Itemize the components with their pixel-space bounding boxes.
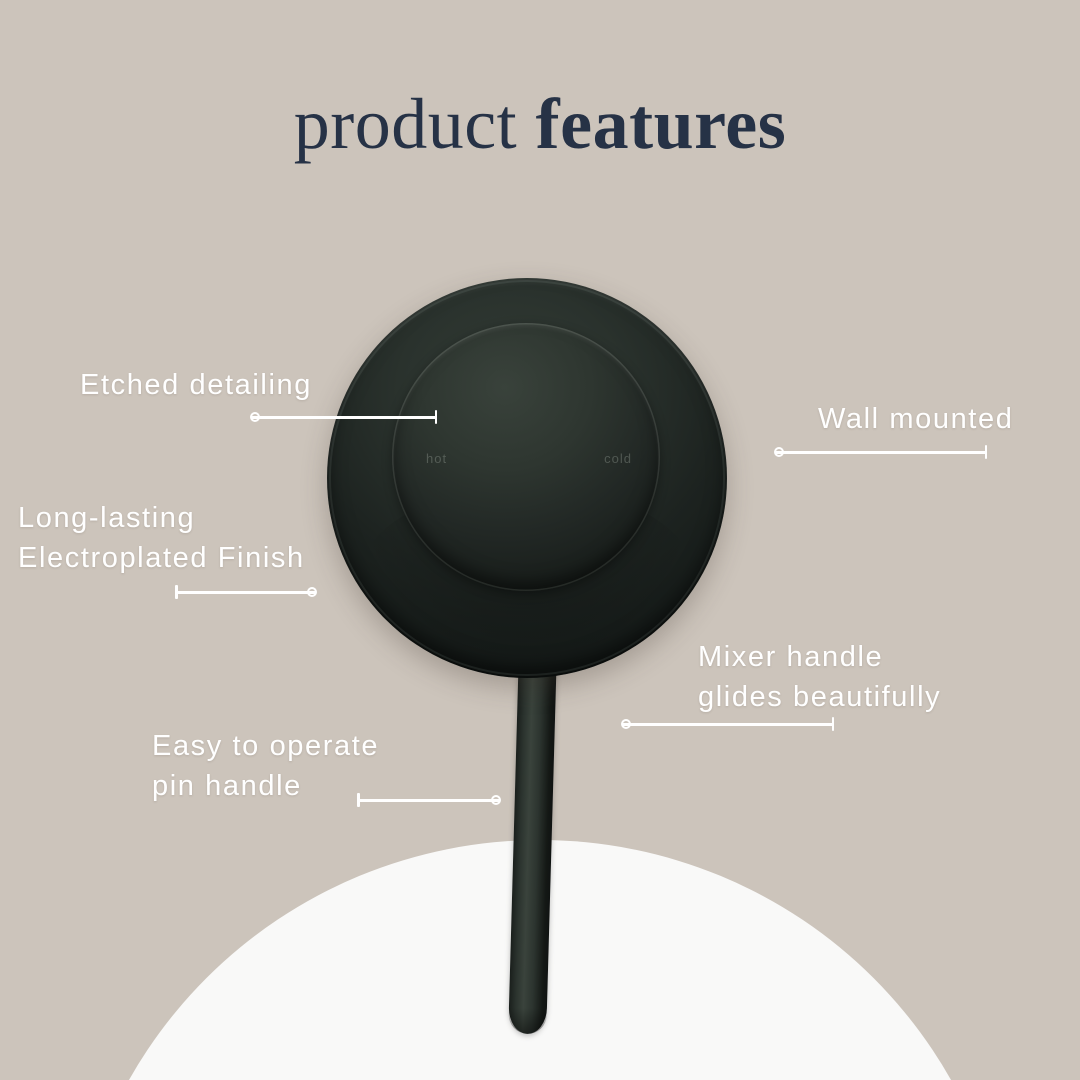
leader-tick-marker bbox=[435, 410, 438, 424]
etch-hot-marking: hot bbox=[426, 451, 447, 466]
leader-tick-marker bbox=[175, 585, 178, 599]
etch-cold-marking: cold bbox=[604, 451, 632, 466]
feature-label-long-lasting-electroplated-finish: Long-lasting Electroplated Finish bbox=[18, 498, 305, 578]
leader-bar bbox=[622, 723, 834, 726]
feature-label-mixer-handle-glides-beautifully: Mixer handle glides beautifully bbox=[698, 637, 941, 717]
leader-circle-marker bbox=[307, 587, 317, 597]
leader-bar bbox=[357, 799, 500, 802]
feature-leader-etched-detailing bbox=[251, 409, 437, 425]
leader-circle-marker bbox=[491, 795, 501, 805]
feature-label-etched-detailing: Etched detailing bbox=[80, 365, 312, 405]
leader-circle-marker bbox=[621, 719, 631, 729]
feature-leader-wall-mounted bbox=[775, 444, 987, 460]
feature-leader-long-lasting-electroplated-finish bbox=[175, 584, 316, 600]
leader-circle-marker bbox=[250, 412, 260, 422]
product-features-infographic: product features hot cold Etched detaili… bbox=[0, 0, 1080, 1080]
mixer-disc: hot cold bbox=[392, 323, 660, 591]
leader-tick-marker bbox=[357, 793, 360, 807]
leader-circle-marker bbox=[774, 447, 784, 457]
leader-bar bbox=[175, 591, 316, 594]
feature-label-easy-to-operate-pin-handle: Easy to operate pin handle bbox=[152, 726, 379, 806]
leader-tick-marker bbox=[985, 445, 988, 459]
feature-label-wall-mounted: Wall mounted bbox=[818, 399, 1013, 439]
feature-leader-mixer-handle-glides-beautifully bbox=[622, 716, 834, 732]
leader-bar bbox=[775, 451, 987, 454]
leader-tick-marker bbox=[832, 717, 835, 731]
leader-bar bbox=[251, 416, 437, 419]
feature-leader-easy-to-operate-pin-handle bbox=[357, 792, 500, 808]
